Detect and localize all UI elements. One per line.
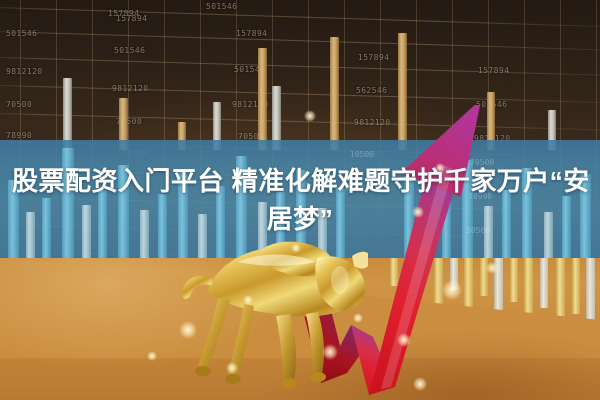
- grid-number-label: 501546: [114, 46, 145, 55]
- chart-bar: [158, 194, 167, 260]
- bokeh-light: [442, 280, 462, 300]
- chart-bar: [544, 212, 553, 260]
- grid-number-label: 501546: [6, 29, 37, 38]
- grid-line-horizontal: [0, 56, 600, 77]
- grid-number-label: 70500: [6, 100, 32, 109]
- chart-bar: [8, 180, 19, 260]
- chart-bar: [140, 210, 149, 260]
- chart-bar: [82, 205, 91, 260]
- bokeh-light: [243, 295, 253, 305]
- grid-line-horizontal: [0, 30, 600, 51]
- bokeh-light: [147, 351, 157, 361]
- chart-bar: [42, 198, 51, 260]
- bokeh-light: [226, 362, 238, 374]
- bokeh-light: [291, 243, 301, 253]
- chart-bar: [62, 148, 74, 260]
- bokeh-light: [412, 206, 424, 218]
- bokeh-light: [353, 313, 363, 323]
- bokeh-light: [486, 262, 498, 274]
- bokeh-light: [413, 377, 427, 391]
- chart-bar: [502, 190, 511, 260]
- grid-number-label: 157894: [358, 53, 389, 62]
- chart-bar: [562, 196, 571, 260]
- chart-bar: [98, 190, 107, 260]
- grid-number-label: 562546: [356, 86, 387, 95]
- bokeh-light: [179, 321, 197, 339]
- bokeh-light: [435, 163, 445, 173]
- bokeh-light: [322, 344, 338, 360]
- grid-number-label: 501546: [206, 2, 237, 11]
- grid-number-label: 9812120: [6, 67, 43, 76]
- grid-line-horizontal: [0, 84, 600, 104]
- grid-number-label: 157894: [236, 29, 267, 38]
- chart-bar: [522, 168, 532, 260]
- grid-number-label: 9812120: [112, 84, 149, 93]
- grid-line-horizontal: [0, 6, 600, 28]
- golden-bull-statue-icon: [168, 222, 368, 400]
- grid-number-label: 157894: [116, 14, 147, 23]
- chart-bar: [580, 174, 591, 260]
- bokeh-light: [397, 333, 411, 347]
- chart-bar: [26, 212, 35, 260]
- grid-number-label: 78990: [6, 131, 32, 140]
- stock-finance-banner: 1578945015469812120705007899015789450154…: [0, 0, 600, 400]
- grid-number-label: 157894: [478, 66, 509, 75]
- chart-bar: [118, 165, 129, 260]
- bokeh-light: [304, 110, 316, 122]
